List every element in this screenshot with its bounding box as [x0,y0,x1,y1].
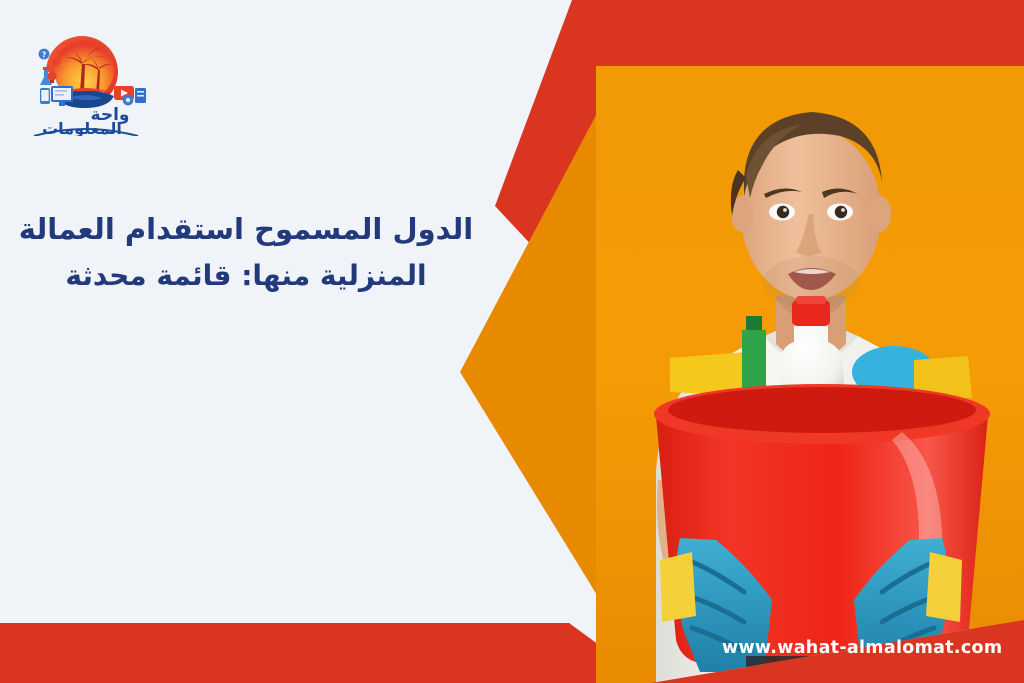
red-bucket-rim-inner [668,387,976,433]
smartphone-icon [40,88,50,104]
banner-canvas: ? واحة المعلومات الدول المسموح استقدام ا… [0,0,1024,683]
eye-glint-left [783,208,787,212]
scrub-brush [746,656,896,678]
green-spray-bottle [742,330,766,394]
bottom-red-band-left [0,623,651,683]
book-icon [135,88,146,103]
hero-photo [596,0,1024,683]
page-title: الدول المسموح استقدام العمالة المنزلية م… [0,206,492,298]
ear-right [869,196,891,232]
iris-right [835,206,847,218]
svg-text:?: ? [42,50,46,59]
page-title-line-2: المنزلية منها: قائمة محدثة [0,253,492,298]
spray-nozzle [746,316,762,330]
question-mark-icon: ? [39,49,50,60]
logo-text-line2: المعلومات [42,119,122,136]
site-url[interactable]: www.wahat-almalomat.com [722,638,1002,658]
sponge-under-left-glove [660,552,696,622]
page-title-line-1: الدول المسموح استقدام العمالة [0,206,492,253]
site-logo[interactable]: ? واحة المعلومات [18,18,150,136]
gear-icon [123,95,134,106]
iris-left [777,206,789,218]
sponge-under-right-glove [926,552,962,622]
bottle-cap-top [796,296,826,304]
eye-glint-right [841,208,845,212]
